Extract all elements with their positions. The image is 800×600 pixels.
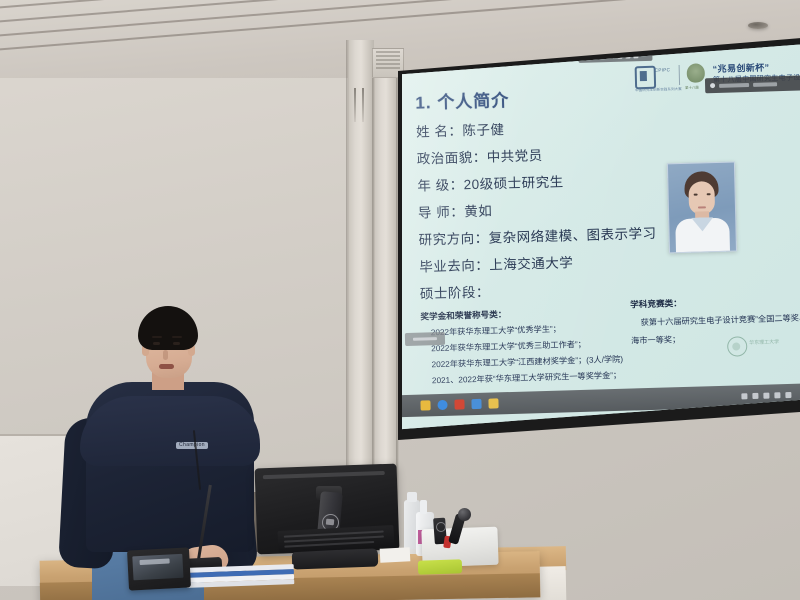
pdf-icon[interactable] bbox=[454, 399, 464, 409]
folder-icon[interactable] bbox=[488, 398, 498, 408]
ceiling-slat bbox=[0, 0, 800, 38]
transmitter-dial-icon bbox=[436, 522, 446, 532]
tooltip-dot-icon bbox=[710, 83, 715, 88]
column-slot bbox=[362, 88, 364, 122]
slide-title: 1. 个人简介 bbox=[415, 86, 509, 114]
cpipc-logo-subtext: 中国研究生创新实践系列大赛 bbox=[635, 86, 682, 92]
field-label: 毕业去向： bbox=[419, 254, 489, 276]
presenter-eyebrow bbox=[152, 336, 162, 338]
photo-mouth bbox=[698, 206, 706, 208]
watermark-ring-icon bbox=[727, 336, 747, 357]
field-value: 中共党员 bbox=[487, 148, 543, 165]
taskbar-system-tray[interactable] bbox=[741, 391, 800, 400]
overlay-bar bbox=[413, 337, 437, 341]
field-row-political: 政治面貌：中共党员 bbox=[416, 144, 542, 168]
field-row-name: 姓 名：陈子健 bbox=[416, 118, 505, 141]
field-row-advisor: 导 师：黄如 bbox=[418, 199, 493, 221]
battery-icon[interactable] bbox=[763, 393, 769, 399]
screen-tooltip-overlay bbox=[705, 75, 800, 93]
presenter-eye bbox=[153, 342, 160, 345]
field-value: 黄如 bbox=[464, 203, 492, 219]
id-photo bbox=[667, 161, 737, 253]
presenter-eyebrow bbox=[172, 336, 182, 338]
file-explorer-icon[interactable] bbox=[420, 400, 430, 410]
photo-face bbox=[688, 181, 715, 215]
handheld-microphone-head bbox=[458, 508, 471, 521]
field-label: 年 级： bbox=[417, 173, 464, 194]
bottle-cap bbox=[407, 492, 417, 502]
university-watermark: 华东理工大学 bbox=[727, 332, 788, 360]
field-row-grade: 年 级：20级硕士研究生 bbox=[417, 170, 564, 194]
ceiling-light bbox=[748, 22, 768, 29]
presenter-hair bbox=[138, 306, 198, 350]
sanitizer-pump bbox=[420, 500, 427, 514]
presenter-mouth bbox=[159, 364, 174, 369]
logo-divider bbox=[679, 65, 680, 85]
powerpoint-slide: CPIPC 中国研究生创新实践系列大赛 第十八届 “兆易创新杯” 第十八届中国研… bbox=[402, 43, 800, 433]
green-cloth bbox=[418, 559, 462, 575]
presenter-shoulders bbox=[80, 396, 260, 466]
cpipc-logo-text: CPIPC bbox=[655, 67, 671, 72]
competition-line: 海市一等奖； bbox=[631, 333, 680, 346]
control-tablet[interactable] bbox=[127, 547, 191, 590]
input-method-icon[interactable] bbox=[774, 392, 780, 398]
field-value: 上海交通大学 bbox=[489, 255, 573, 272]
screenshot-root: CPIPC 中国研究生创新实践系列大赛 第十八届 “兆易创新杯” 第十八届中国研… bbox=[0, 0, 800, 600]
field-label: 导 师： bbox=[418, 200, 465, 221]
tablet-screen[interactable] bbox=[132, 554, 183, 581]
watermark-text: 华东理工大学 bbox=[749, 338, 779, 346]
competition-heading: 学科竞赛类： bbox=[630, 297, 682, 310]
monitor-vent bbox=[263, 471, 385, 479]
field-label: 研究方向： bbox=[418, 227, 488, 249]
volume-icon[interactable] bbox=[752, 393, 758, 399]
taskbar-pinned-apps[interactable] bbox=[402, 398, 499, 411]
presenter-eye bbox=[173, 342, 180, 345]
field-value: 20级硕士研究生 bbox=[463, 174, 563, 192]
tooltip-bar bbox=[753, 82, 777, 87]
emblem-subtext: 第十八届 bbox=[685, 84, 699, 89]
field-value: 陈子健 bbox=[462, 122, 504, 138]
photo-eye bbox=[707, 193, 711, 195]
network-icon[interactable] bbox=[741, 393, 747, 399]
competition-emblem-icon bbox=[687, 63, 705, 83]
presenter: Champion bbox=[0, 300, 250, 600]
awards-heading: 奖学金和荣誉称号类： bbox=[420, 308, 506, 322]
screen-edge-overlay bbox=[405, 332, 445, 346]
presenter-nose bbox=[163, 350, 168, 360]
field-label: 姓 名： bbox=[416, 119, 463, 140]
sweatshirt-logo: Champion bbox=[176, 442, 208, 449]
column-slot bbox=[354, 88, 356, 122]
projection-screen: CPIPC 中国研究生创新实践系列大赛 第十八届 “兆易创新杯” 第十八届中国研… bbox=[402, 43, 800, 433]
paper-sheet bbox=[380, 547, 411, 563]
field-row-masters-stage: 硕士阶段： bbox=[420, 281, 490, 303]
tooltip-bar bbox=[719, 83, 749, 88]
chrome-icon[interactable] bbox=[437, 400, 447, 410]
book-stack bbox=[186, 564, 295, 588]
cloud-icon[interactable] bbox=[785, 392, 791, 398]
powerpoint-icon[interactable] bbox=[471, 399, 481, 409]
cpipc-logo-icon bbox=[635, 66, 657, 90]
photo-eye bbox=[694, 194, 698, 196]
field-label: 政治面貌： bbox=[416, 146, 486, 168]
field-label: 硕士阶段： bbox=[420, 281, 490, 303]
